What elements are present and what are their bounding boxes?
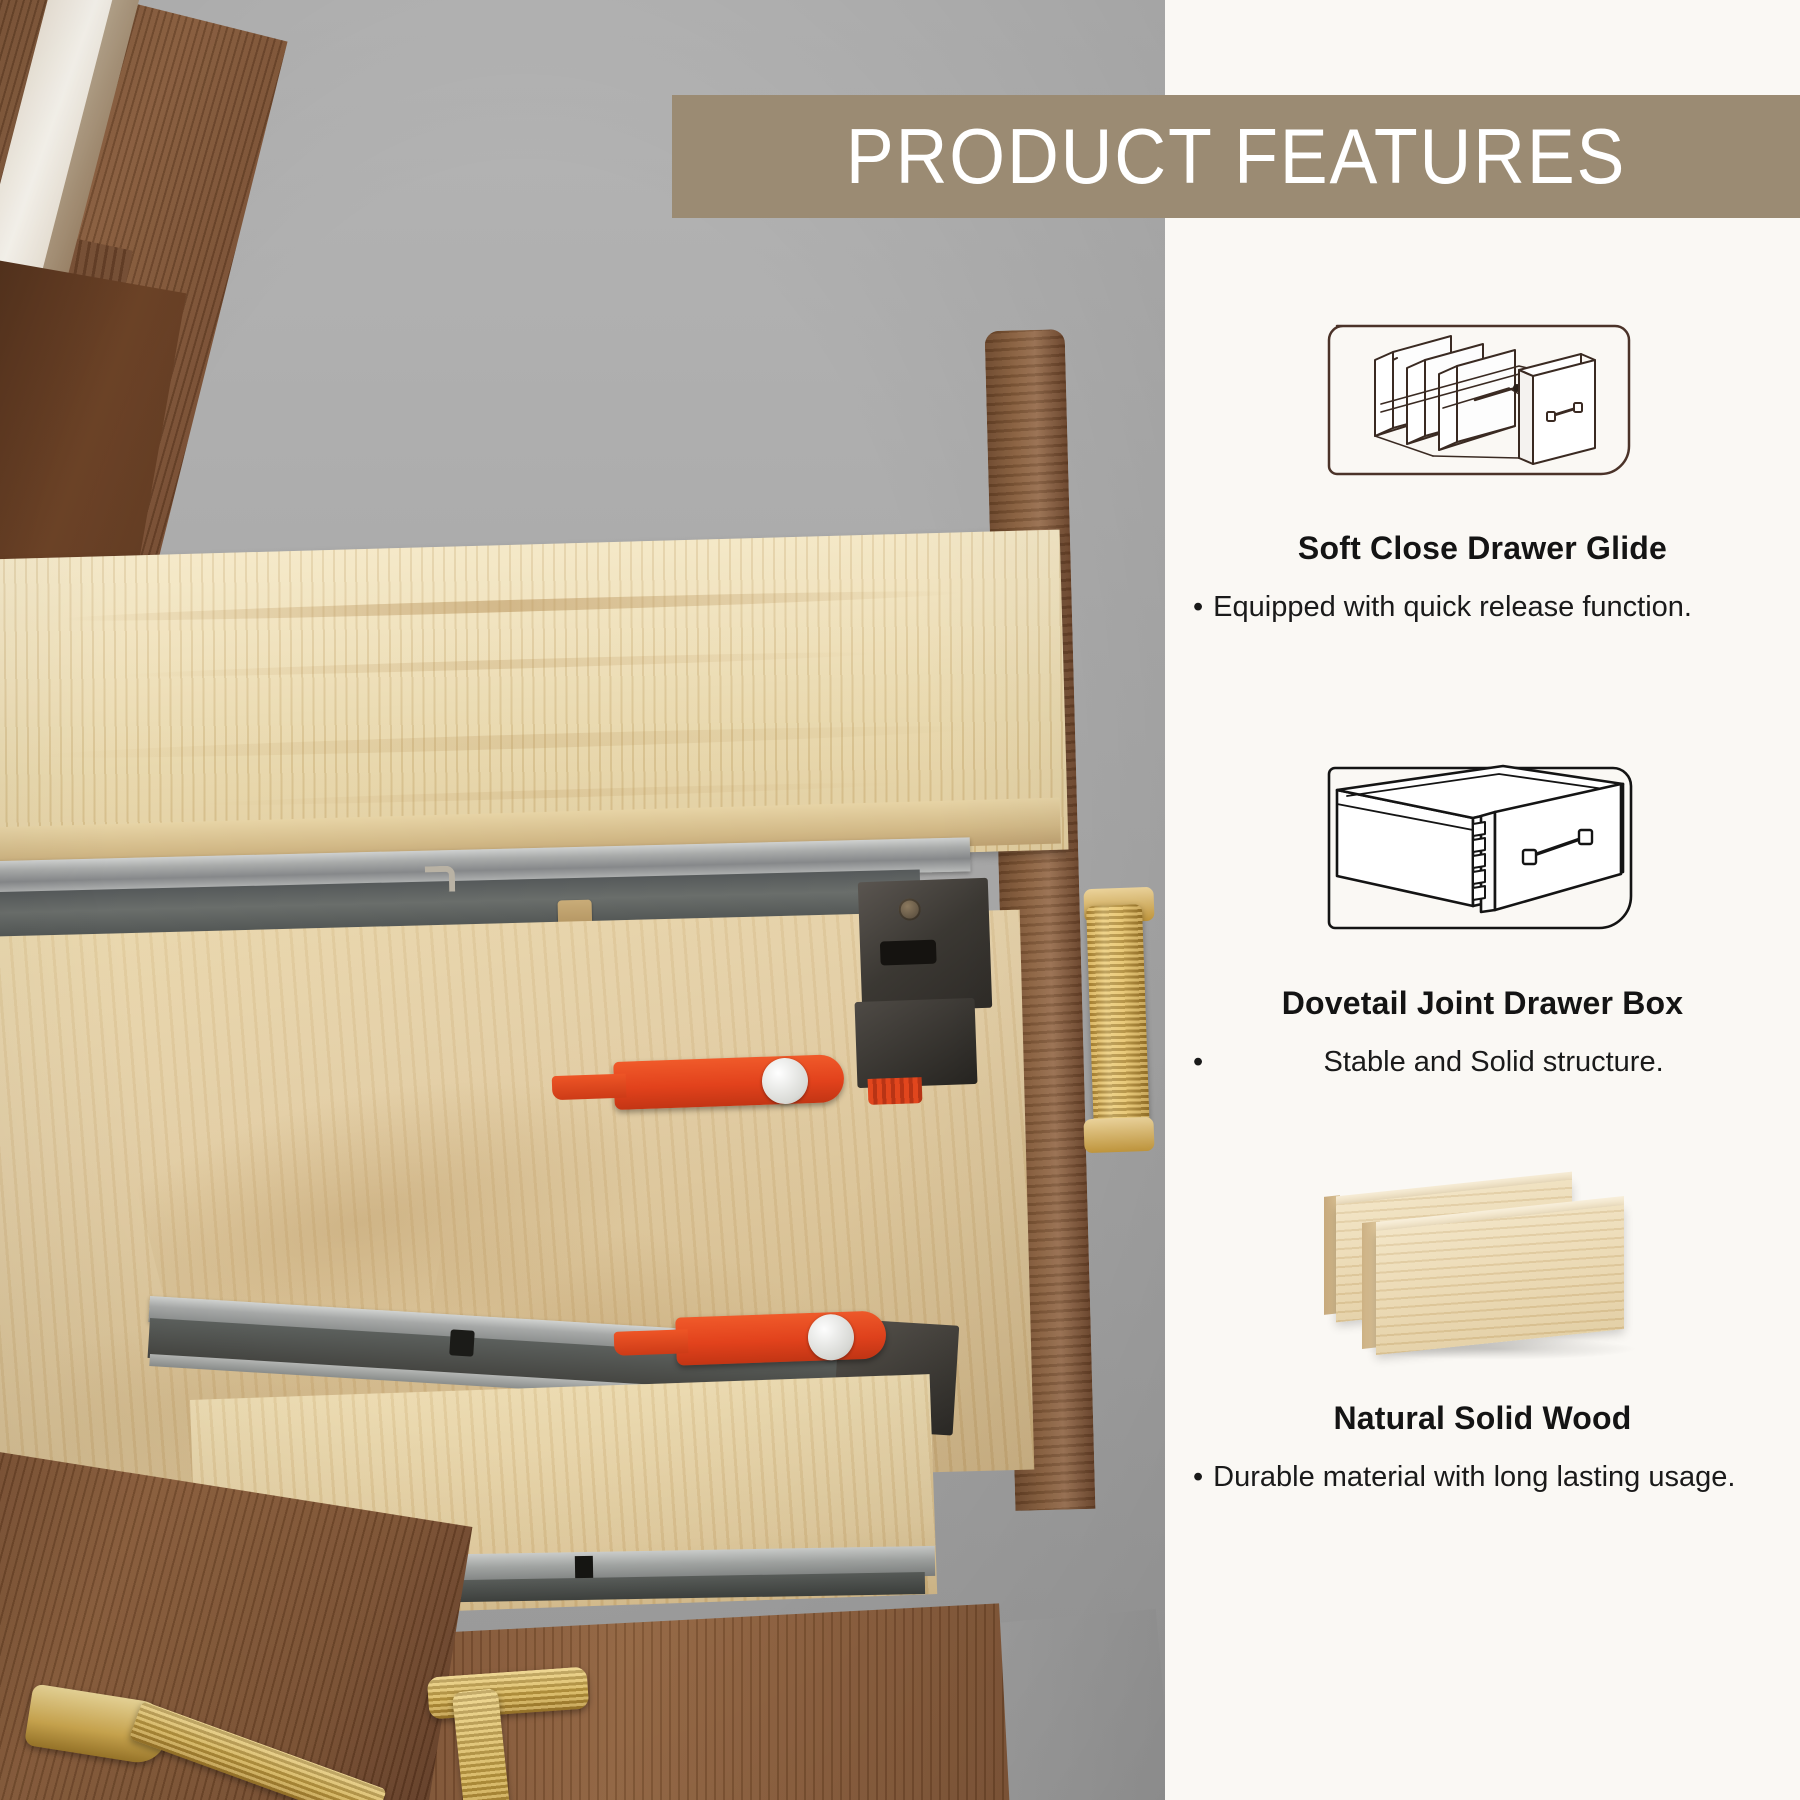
- quick-release-lever-upper: [613, 1054, 845, 1110]
- bullet-marker: •: [1193, 589, 1203, 626]
- slide-mounting-bracket-upper: [858, 878, 992, 1012]
- feature-bullet-list: • Stable and Solid structure.: [1165, 1044, 1800, 1081]
- bullet-text: Stable and Solid structure.: [1213, 1044, 1774, 1081]
- header-banner: PRODUCT FEATURES: [672, 95, 1800, 218]
- feature-block-dovetail-joint-drawer-box: Dovetail Joint Drawer Box • Stable and S…: [1165, 755, 1800, 1085]
- solid-wood-boards-icon: [1165, 1170, 1800, 1370]
- bullet-marker: •: [1193, 1044, 1203, 1081]
- screw-icon: [898, 898, 921, 921]
- bullet-text: Equipped with quick release function.: [1213, 589, 1774, 626]
- dovetail-drawer-box-icon: [1165, 755, 1800, 955]
- feature-bullet: • Durable material with long lasting usa…: [1193, 1459, 1774, 1496]
- bracket-release-grip: [868, 1077, 923, 1105]
- lower-slide-tab: [449, 1329, 475, 1356]
- bullet-marker: •: [1193, 1459, 1203, 1496]
- feature-title: Soft Close Drawer Glide: [1165, 530, 1800, 567]
- feature-block-soft-close-drawer-glide: Soft Close Drawer Glide • Equipped with …: [1165, 300, 1800, 630]
- quick-release-lever-lower: [675, 1310, 887, 1365]
- slide-mounting-bracket-lower: [855, 998, 978, 1088]
- release-button: [761, 1057, 809, 1105]
- bracket-slot: [880, 940, 937, 966]
- feature-block-natural-solid-wood: Natural Solid Wood • Durable material wi…: [1165, 1170, 1800, 1500]
- bullet-text: Durable material with long lasting usage…: [1213, 1459, 1774, 1496]
- brass-drawer-handle: [1086, 904, 1150, 1136]
- feature-bullet-list: • Durable material with long lasting usa…: [1165, 1459, 1800, 1496]
- feature-title: Natural Solid Wood: [1165, 1400, 1800, 1437]
- bottom-slide-stop: [575, 1556, 593, 1578]
- feature-bullet: • Equipped with quick release function.: [1193, 589, 1774, 626]
- release-button: [807, 1313, 855, 1361]
- slide-hook-icon: [425, 866, 456, 893]
- product-photo: [0, 0, 1165, 1800]
- brass-handle-cap-bottom: [1083, 1117, 1154, 1153]
- feature-title: Dovetail Joint Drawer Box: [1165, 985, 1800, 1022]
- drawer-glide-icon: [1165, 300, 1800, 500]
- feature-bullet: • Stable and Solid structure.: [1193, 1044, 1774, 1081]
- page-title: PRODUCT FEATURES: [846, 111, 1626, 202]
- wood-boards-image: [1318, 1178, 1648, 1363]
- features-panel: Soft Close Drawer Glide • Equipped with …: [1165, 0, 1800, 1800]
- front-board: [1376, 1204, 1624, 1354]
- feature-bullet-list: • Equipped with quick release function.: [1165, 589, 1800, 626]
